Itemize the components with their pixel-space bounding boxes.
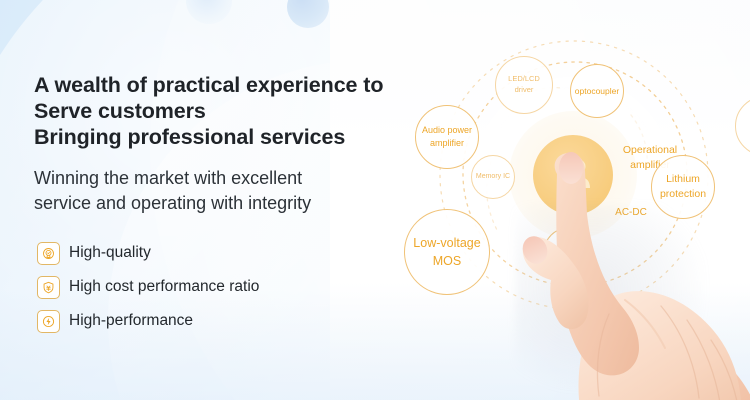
bubble-label: optocoupler: [575, 85, 619, 97]
background-circle-accent: [287, 0, 329, 28]
lightning-bolt-icon: [37, 310, 60, 333]
list-item: High-quality: [37, 236, 414, 270]
pointing-hand: [491, 144, 750, 400]
bubble-low-voltage-mos[interactable]: Low-voltage MOS: [404, 209, 490, 295]
feature-label: High cost performance ratio: [69, 278, 259, 296]
quality-seal-icon: [37, 242, 60, 265]
list-item: High-performance: [37, 304, 414, 338]
bubble-audio-power-amplifier[interactable]: Audio power amplifier: [415, 105, 479, 169]
feature-label: High-quality: [69, 244, 151, 262]
page-subtitle: Winning the market with excellent servic…: [34, 166, 414, 216]
bubble-label: Low-voltage MOS: [413, 234, 480, 270]
bubble-led-lcd-driver[interactable]: LED/LCD driver: [495, 56, 553, 114]
bubble-label: Audio power amplifier: [422, 124, 472, 150]
promo-banner: A wealth of practical experience to Serv…: [0, 0, 750, 400]
background-circle-small: [186, 0, 232, 24]
bubble-optocoupler[interactable]: optocoupler: [570, 64, 624, 118]
feature-list: High-quality High cost performance ratio: [37, 236, 414, 338]
copy-block: A wealth of practical experience to Serv…: [34, 72, 414, 338]
bubble-label: LED/LCD driver: [498, 74, 550, 96]
page-title: A wealth of practical experience to Serv…: [34, 72, 414, 150]
shield-currency-icon: [37, 276, 60, 299]
list-item: High cost performance ratio: [37, 270, 414, 304]
feature-label: High-performance: [69, 312, 193, 330]
network-graphic: LED/LCD driver optocoupler Audio power a…: [395, 0, 750, 400]
